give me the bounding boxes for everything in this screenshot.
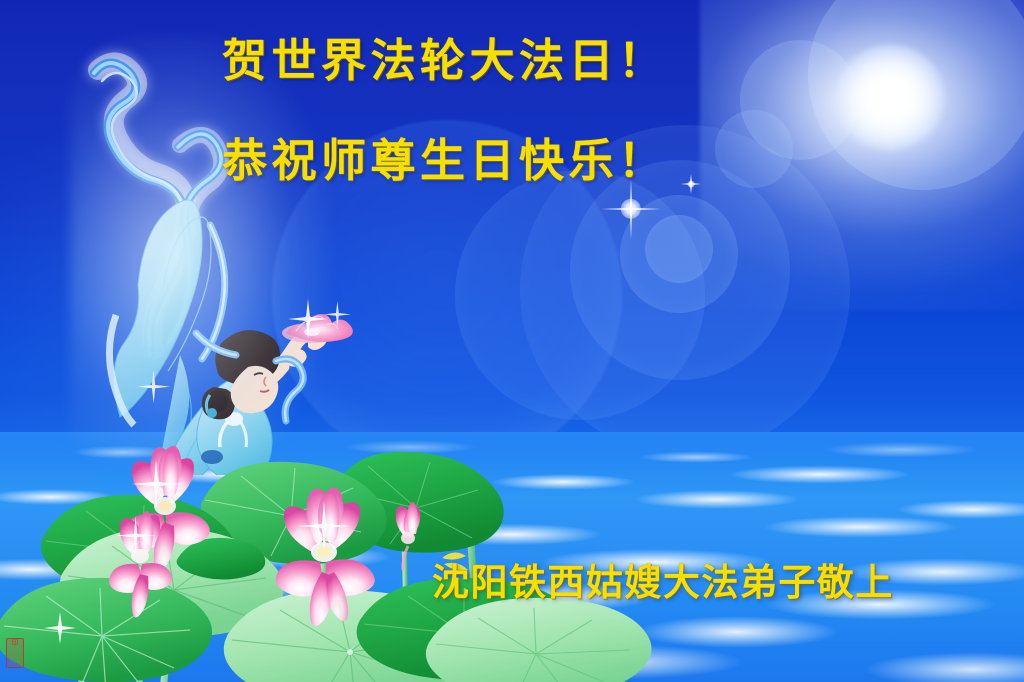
sun-glow	[700, 0, 1024, 310]
page-title-line-1: 贺世界法轮大法日！	[222, 24, 668, 89]
medium-translucent-orb	[455, 170, 705, 420]
page-title-line-2: 恭祝师尊生日快乐！	[222, 124, 668, 189]
sun-icon	[835, 45, 945, 150]
signature-text: 沈阳铁西姑嫂大法弟子敬上	[432, 552, 894, 606]
red-seal-stamp: 印	[6, 638, 24, 668]
greeting-card: 贺世界法轮大法日！ 恭祝师尊生日快乐！ 沈阳铁西姑嫂大法弟子敬上 印	[0, 0, 1024, 682]
maiden-aura-glow	[70, 35, 330, 465]
celestial-maiden	[60, 25, 360, 475]
